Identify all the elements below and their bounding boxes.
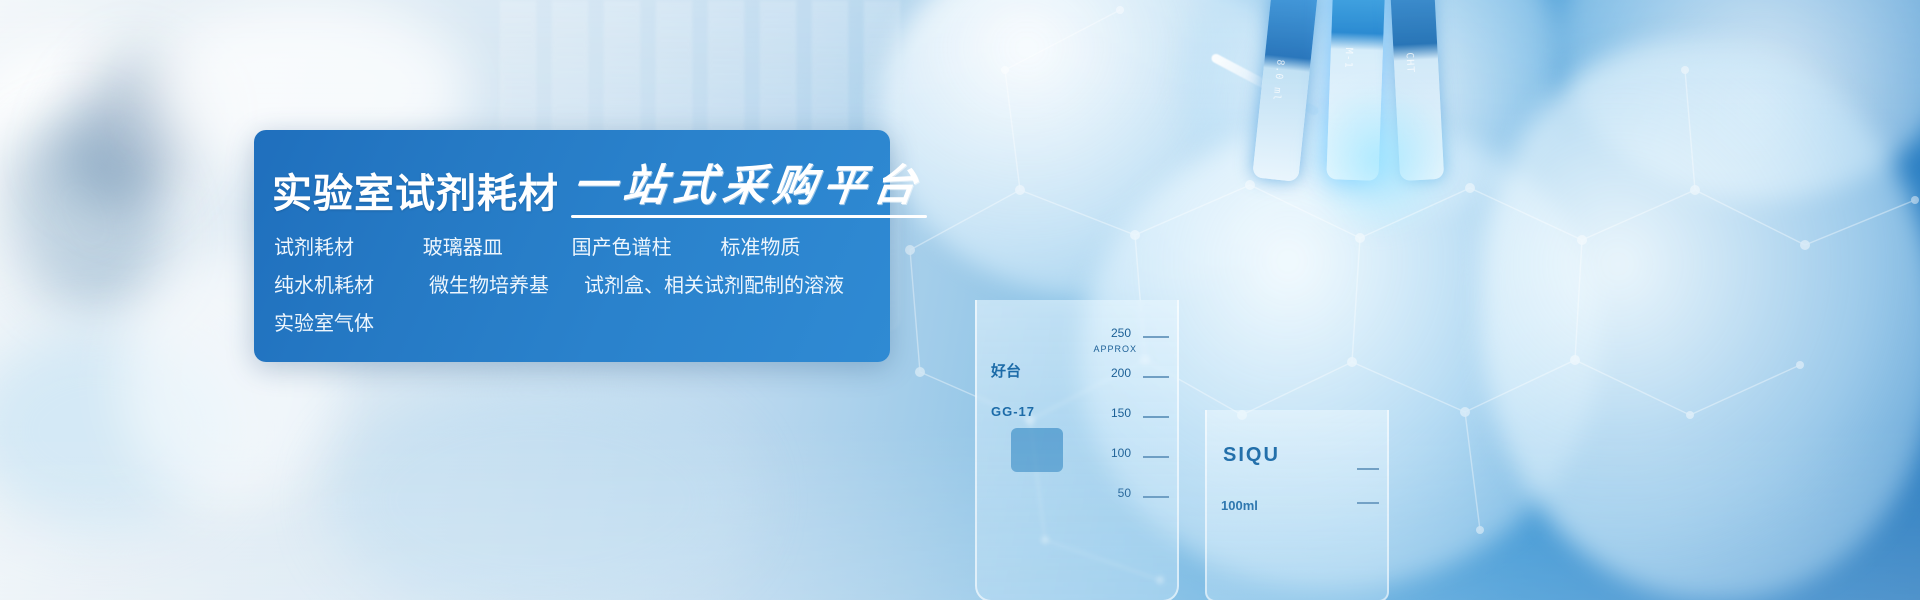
- beaker-graduation-150: 150: [1111, 406, 1131, 420]
- beaker-brand-label: 好台: [991, 360, 1021, 381]
- promo-panel: 实验室试剂耗材 一站式采购平台 试剂耗材 玻璃器皿 国产色谱柱 标准物质 纯水机…: [254, 130, 890, 362]
- category-link-laboratory-gas[interactable]: 实验室气体: [274, 313, 429, 333]
- beaker-glass-code: GG-17: [991, 404, 1035, 419]
- headline: 实验室试剂耗材 一站式采购平台: [272, 152, 880, 214]
- beaker-approx-label: APPROX: [1093, 344, 1137, 354]
- category-list: 试剂耗材 玻璃器皿 国产色谱柱 标准物质 纯水机耗材 微生物培养基 试剂盒、相关…: [274, 228, 874, 342]
- beaker-right-volume: 100ml: [1221, 498, 1258, 513]
- category-link-reagent-consumables[interactable]: 试剂耗材: [274, 237, 423, 257]
- category-row: 实验室气体: [274, 304, 874, 342]
- category-link-domestic-chromatography-column[interactable]: 国产色谱柱: [572, 237, 721, 257]
- beaker-graduation-200: 200: [1111, 366, 1131, 380]
- category-row: 试剂耗材 玻璃器皿 国产色谱柱 标准物质: [274, 228, 874, 266]
- category-link-microbial-culture-medium[interactable]: 微生物培养基: [429, 275, 584, 295]
- headline-brush-text: 一站式采购平台: [570, 165, 925, 208]
- category-link-reference-material[interactable]: 标准物质: [720, 237, 874, 257]
- beaker-right-brand: SIQU: [1223, 444, 1280, 467]
- headline-main-text: 实验室试剂耗材: [272, 174, 559, 214]
- category-link-reagent-kits-solutions[interactable]: 试剂盒、相关试剂配制的溶液: [584, 275, 844, 295]
- headline-brush-wrap: 一站式采购平台: [573, 165, 923, 214]
- category-row: 纯水机耗材 微生物培养基 试剂盒、相关试剂配制的溶液: [274, 266, 874, 304]
- beaker-graduation-250: 250: [1111, 326, 1131, 340]
- beaker-liquid: [1011, 428, 1063, 472]
- lab-reagent-banner: 8.0 ml M-1 CHT: [0, 0, 1920, 600]
- headline-underline: [571, 215, 927, 218]
- bg-beaker-main: 250 APPROX 200 150 100 50 好台 GG-17: [975, 300, 1179, 600]
- beaker-graduation-50: 50: [1118, 486, 1131, 500]
- bg-beaker-right: SIQU 100ml: [1205, 410, 1389, 600]
- category-link-glassware[interactable]: 玻璃器皿: [423, 237, 572, 257]
- category-link-water-purifier-consumables[interactable]: 纯水机耗材: [274, 275, 429, 295]
- beaker-graduation-100: 100: [1111, 446, 1131, 460]
